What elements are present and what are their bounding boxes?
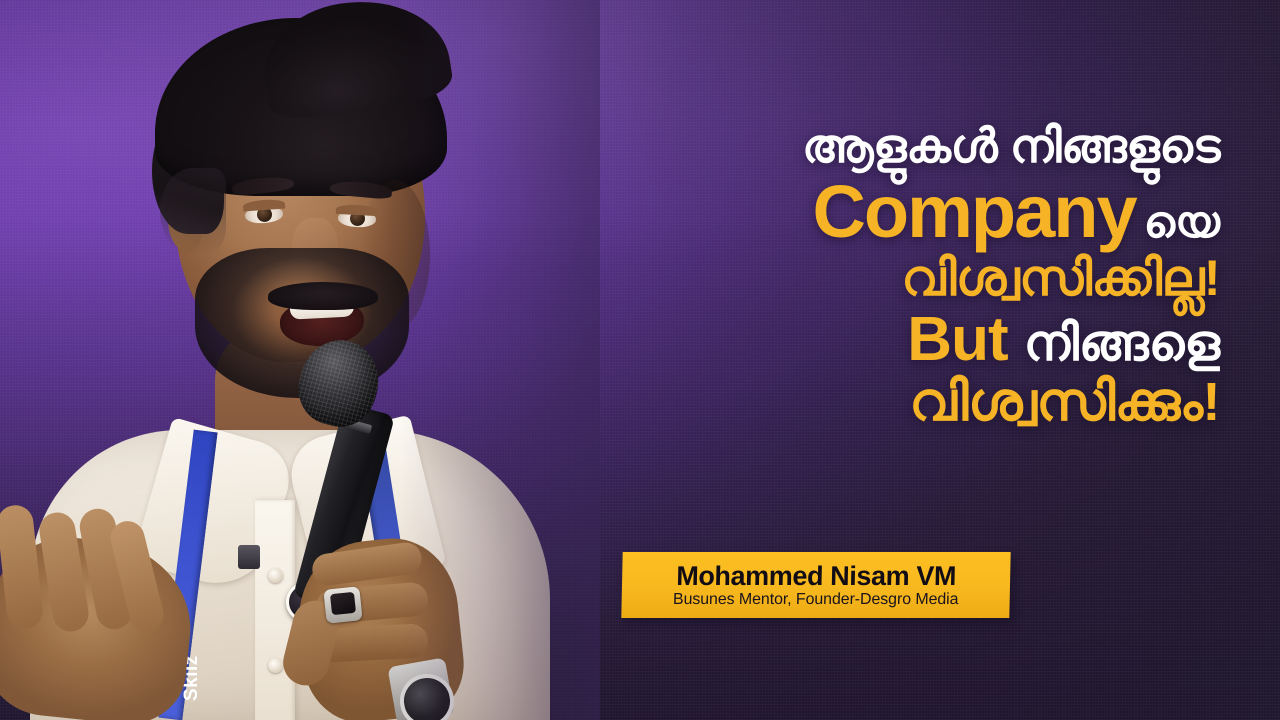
speaker-title: Busunes Mentor, Founder-Desgro Media bbox=[673, 591, 959, 609]
lanyard-clip bbox=[238, 545, 260, 569]
shirt-button bbox=[268, 568, 283, 583]
left-finger bbox=[0, 503, 44, 630]
headline-line-2: Companyയെ bbox=[600, 175, 1220, 249]
headline-line-5: വിശ്വസിക്കും! bbox=[600, 375, 1220, 429]
thumbnail-canvas: Skilz Skilz ആളുകൾ നിങ്ങളുടെ Companyയെ വി… bbox=[0, 0, 1280, 720]
temple-fade bbox=[160, 168, 226, 254]
speaker-photo: Skilz Skilz bbox=[0, 0, 600, 720]
headline-line-1: ആളുകൾ നിങ്ങളുടെ bbox=[600, 122, 1220, 169]
speaker-name-badge: Mohammed Nisam VM Busunes Mentor, Founde… bbox=[621, 552, 1010, 618]
shirt-button bbox=[268, 658, 283, 673]
headline-ningale-word: നിങ്ങളെ bbox=[1024, 315, 1220, 371]
headline-line-4: Butനിങ്ങളെ bbox=[600, 309, 1220, 371]
headline-company-word: Company bbox=[812, 170, 1135, 253]
moustache bbox=[268, 282, 378, 310]
headline-block: ആളുകൾ നിങ്ങളുടെ Companyയെ വിശ്വസിക്കില്ല… bbox=[600, 122, 1220, 429]
ring-stone bbox=[330, 592, 356, 615]
headline-suffix-ye: യെ bbox=[1144, 198, 1220, 247]
speaker-name: Mohammed Nisam VM bbox=[676, 562, 956, 590]
headline-but-word: But bbox=[907, 305, 1007, 374]
headline-line-3: വിശ്വസിക്കില്ല! bbox=[600, 253, 1220, 303]
